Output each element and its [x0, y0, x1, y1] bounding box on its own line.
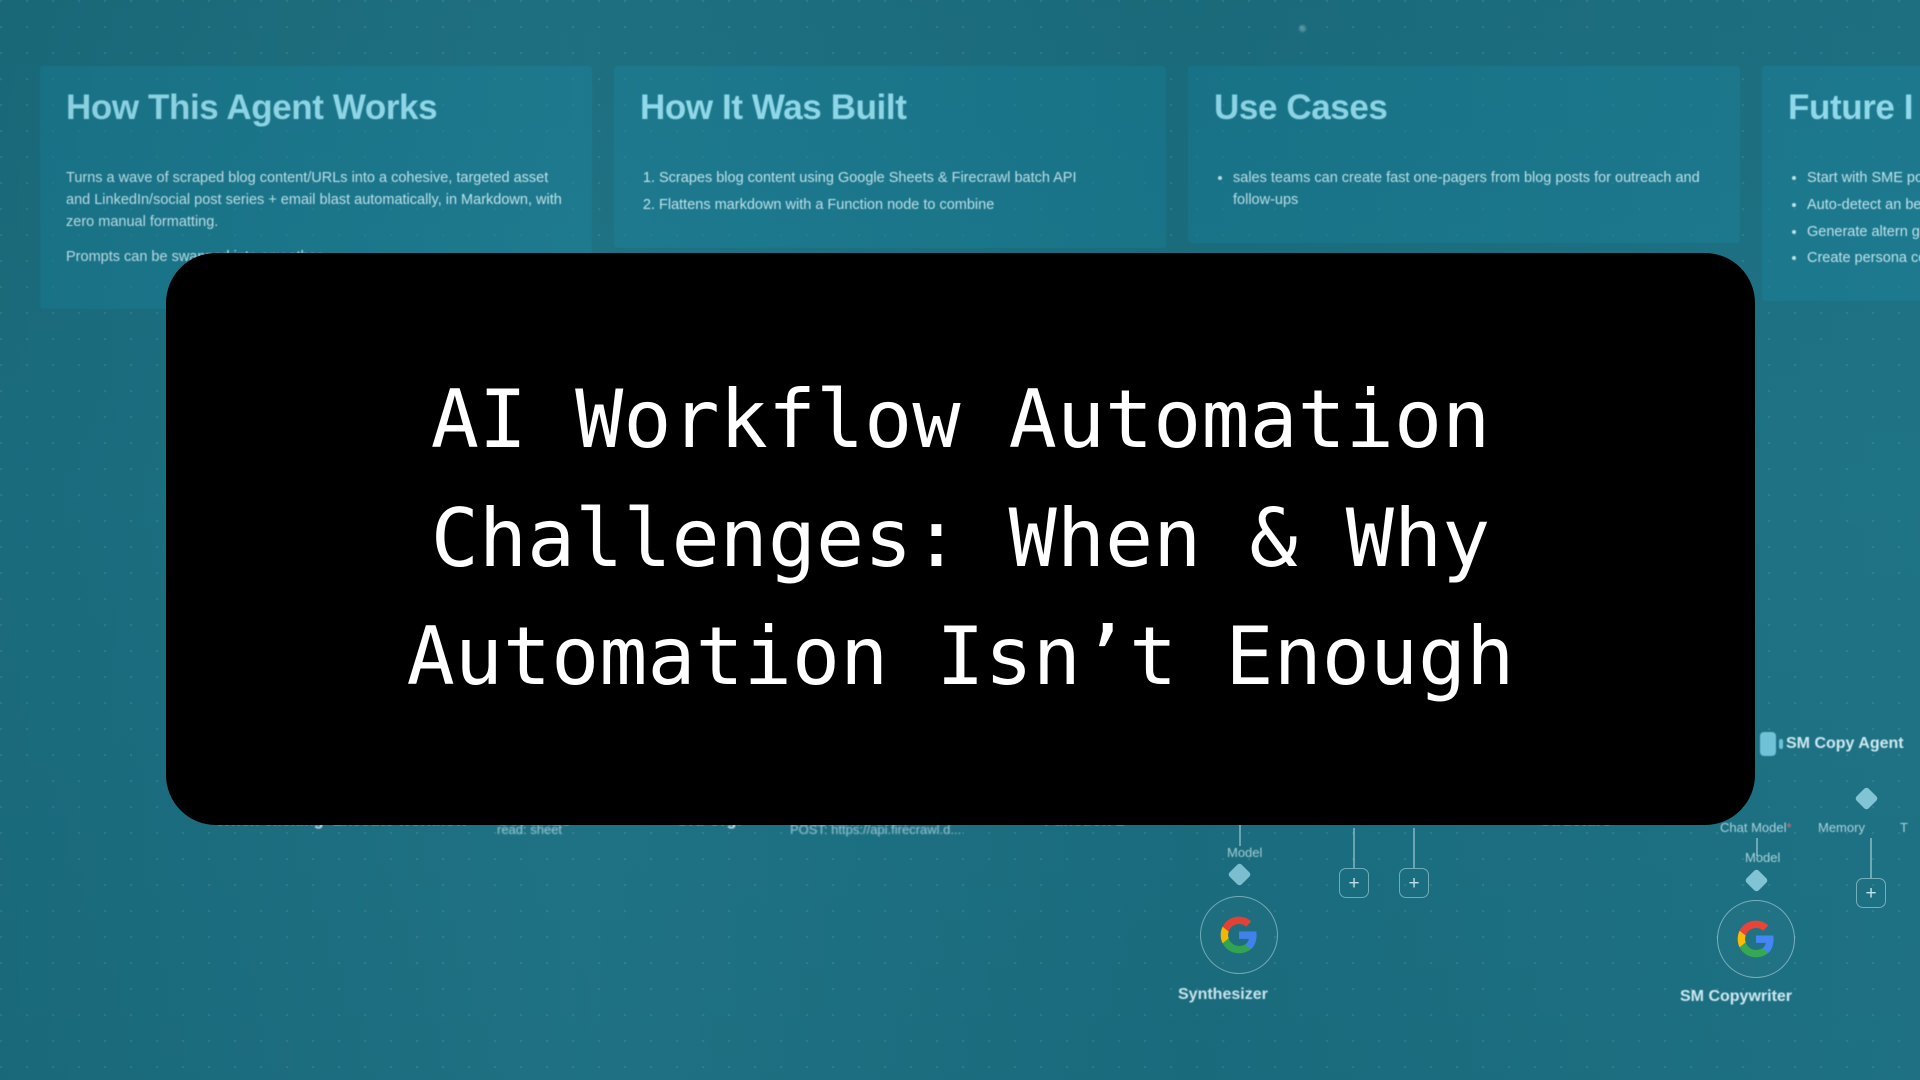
add-node-button[interactable]: +: [1339, 868, 1369, 898]
node-sm-copy-agent[interactable]: SM Copy Agent: [1760, 732, 1904, 756]
canvas-speck: [1299, 25, 1306, 32]
node-label-synthesizer: Synthesizer: [1178, 986, 1268, 1004]
connector-line: [1239, 824, 1241, 846]
node-label-sm-copywriter: SM Copywriter: [1680, 988, 1792, 1006]
title-line-2: Challenges: When & Why: [431, 480, 1491, 598]
node-label: SM Copy Agent: [1786, 735, 1904, 753]
card-title: How It Was Built: [640, 88, 1140, 128]
node-sm-copywriter[interactable]: [1717, 900, 1795, 978]
card-body: sales teams can create fast one-pagers f…: [1214, 168, 1714, 212]
list-item: Flattens markdown with a Function node t…: [659, 195, 1140, 217]
list-item: Auto-detect an before playboo: [1807, 195, 1920, 217]
list-item: Start with SME posts for more: [1807, 168, 1920, 190]
card-body: Start with SME posts for more Auto-detec…: [1788, 168, 1920, 270]
card-ordered-list: Scrapes blog content using Google Sheets…: [659, 168, 1140, 217]
google-g-icon: [1219, 915, 1259, 955]
list-item: Scrapes blog content using Google Sheets…: [659, 168, 1140, 190]
required-marker: *: [1786, 820, 1791, 835]
connector-line: [1870, 838, 1872, 878]
sticky-note-future[interactable]: Future I Start with SME posts for more A…: [1762, 66, 1920, 301]
video-title-overlay: AI Workflow Automation Challenges: When …: [166, 253, 1755, 825]
google-g-icon: [1736, 919, 1776, 959]
title-line-1: AI Workflow Automation: [431, 361, 1491, 479]
port-label-memory: Memory: [1818, 820, 1865, 835]
card-bullet-list: Start with SME posts for more Auto-detec…: [1807, 168, 1920, 270]
list-item: Create persona compliance lea: [1807, 248, 1920, 270]
title-line-3: Automation Isn’t Enough: [407, 598, 1515, 716]
list-item: sales teams can create fast one-pagers f…: [1233, 168, 1714, 212]
node-synthesizer[interactable]: [1200, 896, 1278, 974]
port-label-tool: T: [1900, 820, 1908, 835]
card-bullet-list: sales teams can create fast one-pagers f…: [1233, 168, 1714, 212]
add-node-button[interactable]: +: [1399, 868, 1429, 898]
workflow-canvas[interactable]: How This Agent Works Turns a wave of scr…: [0, 0, 1920, 1080]
port-label-chat-model: Chat Model*: [1720, 820, 1792, 835]
connector-line: [1413, 828, 1415, 868]
card-title: How This Agent Works: [66, 88, 566, 128]
add-node-button[interactable]: +: [1856, 878, 1886, 908]
connector-line: [1756, 838, 1758, 856]
port-label-model: Model: [1227, 845, 1262, 860]
sticky-note-use-cases[interactable]: Use Cases sales teams can create fast on…: [1188, 66, 1740, 243]
agent-icon: [1760, 732, 1776, 756]
sticky-note-how-it-was-built[interactable]: How It Was Built Scrapes blog content us…: [614, 66, 1166, 248]
connector-line: [1353, 828, 1355, 868]
card-body: Scrapes blog content using Google Sheets…: [640, 168, 1140, 217]
list-item: Generate altern gated PDFs, ca: [1807, 222, 1920, 244]
port-label-text: Chat Model: [1720, 820, 1786, 835]
port-connector-diamond[interactable]: [1227, 862, 1251, 886]
card-title: Use Cases: [1214, 88, 1714, 128]
port-connector-diamond[interactable]: [1854, 786, 1878, 810]
card-paragraph: Turns a wave of scraped blog content/URL…: [66, 168, 566, 233]
card-title: Future I: [1788, 88, 1920, 128]
port-label-model: Model: [1745, 850, 1780, 865]
port-connector-diamond[interactable]: [1744, 868, 1768, 892]
